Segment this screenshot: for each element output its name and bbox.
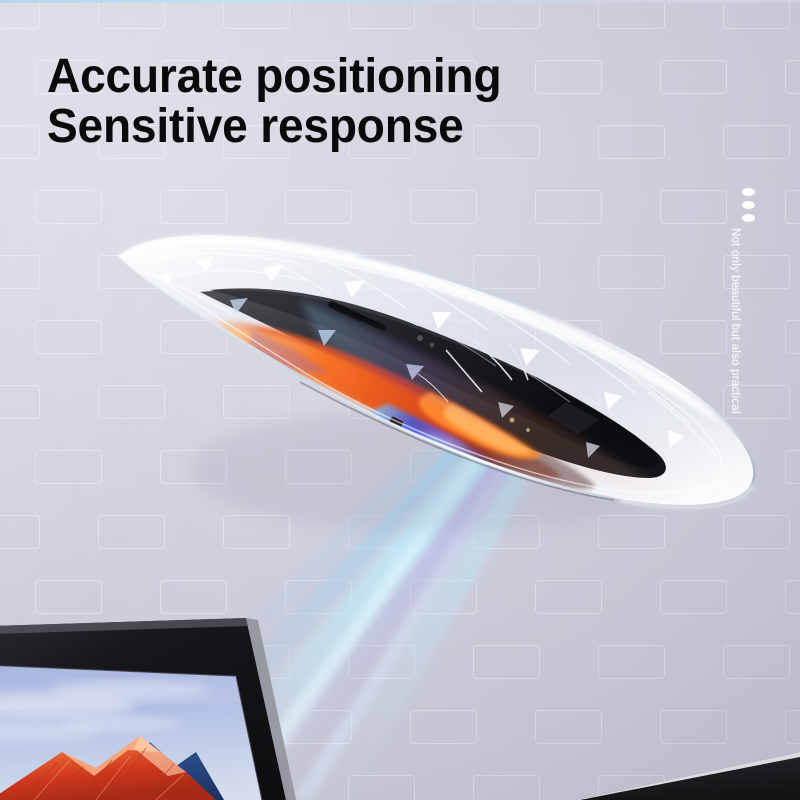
side-caption-text: Not only beautiful but also practical: [729, 228, 741, 244]
decorative-dots: [742, 188, 755, 227]
dot-2: [742, 201, 755, 209]
side-caption: Not only beautiful but also practical: [741, 228, 757, 240]
page-headline: Accurate positioning Sensitive response: [47, 52, 501, 152]
dot-1: [742, 188, 755, 196]
product-marketing-banner: Accurate positioning Sensitive response …: [0, 0, 800, 800]
dot-3: [742, 214, 755, 222]
headline-line-2: Sensitive response: [47, 102, 501, 152]
headline-line-1: Accurate positioning: [47, 50, 501, 103]
top-accent-line: [0, 0, 800, 3]
